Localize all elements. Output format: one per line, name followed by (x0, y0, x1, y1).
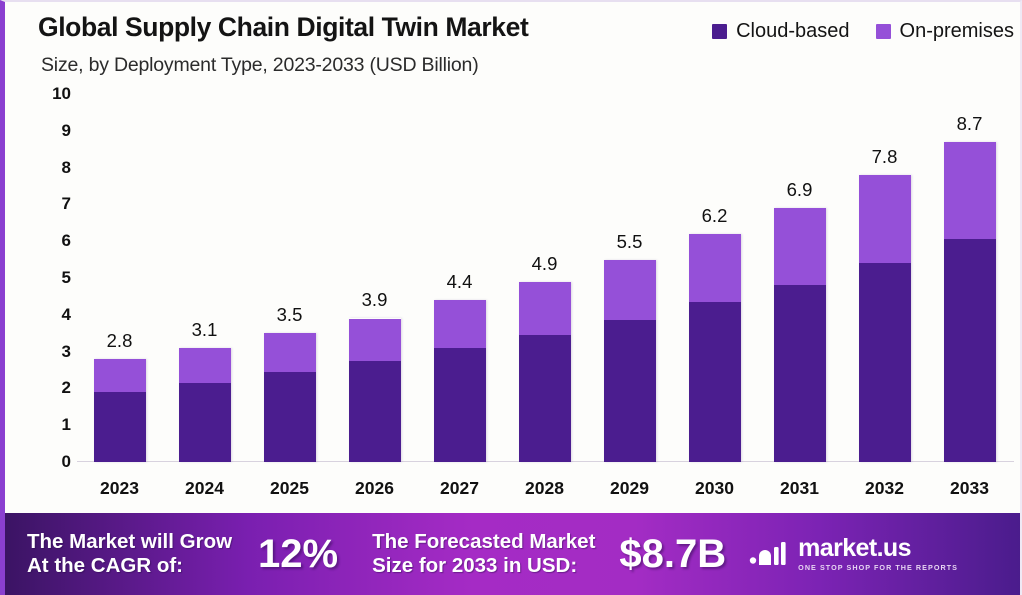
bar-segment-on-premises-2023[interactable] (94, 359, 146, 392)
logo-name: market.us (798, 536, 958, 561)
legend-item-cloud-based: Cloud-based (712, 20, 849, 43)
cagr-value: 12% (258, 532, 338, 577)
bar-stack-2033[interactable] (944, 142, 996, 462)
bar-segment-on-premises-2024[interactable] (179, 348, 231, 383)
x-axis-tick-2028: 2028 (516, 478, 574, 499)
bar-value-label-2031: 6.9 (787, 179, 813, 201)
bar-value-label-2029: 5.5 (617, 231, 643, 253)
chart-plot-area: 109876543210 2.83.13.53.94.44.95.56.26.9… (5, 94, 1022, 512)
x-axis-tick-2030: 2030 (686, 478, 744, 499)
bar-stack-2023[interactable] (94, 359, 146, 462)
bar-segment-cloud-based-2028[interactable] (519, 335, 571, 462)
bar-stack-2025[interactable] (264, 333, 316, 462)
x-axis-tick-2023: 2023 (91, 478, 149, 499)
bar-segment-cloud-based-2032[interactable] (859, 263, 911, 462)
y-axis-tick-9: 9 (62, 121, 71, 141)
bar-stack-2027[interactable] (434, 300, 486, 462)
bar-column-2033[interactable]: 8.7 (941, 94, 999, 462)
y-axis-tick-7: 7 (62, 194, 71, 214)
bar-column-2030[interactable]: 6.2 (686, 94, 744, 462)
bar-segment-cloud-based-2031[interactable] (774, 285, 826, 462)
forecast-caption-line1: The Forecasted Market (372, 530, 595, 553)
bar-segment-on-premises-2026[interactable] (349, 319, 401, 361)
bar-stack-2032[interactable] (859, 175, 911, 462)
bar-column-2029[interactable]: 5.5 (601, 94, 659, 462)
legend-swatch-icon-on-premises (876, 24, 891, 39)
bar-column-2023[interactable]: 2.8 (91, 94, 149, 462)
x-axis-tick-2033: 2033 (941, 478, 999, 499)
market-us-logo-mark-icon (748, 539, 790, 569)
page-subtitle: Size, by Deployment Type, 2023-2033 (USD… (41, 54, 478, 77)
y-axis-tick-10: 10 (52, 84, 71, 104)
legend-swatch-icon-cloud-based (712, 24, 727, 39)
bar-column-2027[interactable]: 4.4 (431, 94, 489, 462)
bar-column-2026[interactable]: 3.9 (346, 94, 404, 462)
bar-segment-on-premises-2027[interactable] (434, 300, 486, 348)
y-axis-tick-3: 3 (62, 342, 71, 362)
chart-header: Global Supply Chain Digital Twin Market … (5, 2, 1022, 94)
footer-banner: The Market will Grow At the CAGR of: 12%… (5, 513, 1022, 595)
legend-label-cloud-based: Cloud-based (736, 20, 849, 43)
x-axis-tick-2025: 2025 (261, 478, 319, 499)
bar-column-2025[interactable]: 3.5 (261, 94, 319, 462)
bar-segment-on-premises-2033[interactable] (944, 142, 996, 240)
y-axis-tick-6: 6 (62, 231, 71, 251)
legend-label-on-premises: On-premises (900, 20, 1014, 43)
bar-segment-cloud-based-2033[interactable] (944, 239, 996, 462)
bar-segment-cloud-based-2025[interactable] (264, 372, 316, 462)
bar-value-label-2026: 3.9 (362, 289, 388, 311)
bar-stack-2024[interactable] (179, 348, 231, 462)
bar-segment-on-premises-2030[interactable] (689, 234, 741, 302)
bar-stack-2030[interactable] (689, 234, 741, 462)
market-us-logo-text: market.us ONE STOP SHOP FOR THE REPORTS (798, 536, 958, 571)
bar-segment-cloud-based-2029[interactable] (604, 320, 656, 462)
bar-stack-2028[interactable] (519, 282, 571, 462)
y-axis-tick-0: 0 (62, 452, 71, 472)
bar-value-label-2023: 2.8 (107, 330, 133, 352)
bar-value-label-2033: 8.7 (957, 113, 983, 135)
cagr-caption-line1: The Market will Grow (27, 530, 232, 553)
legend-item-on-premises: On-premises (876, 20, 1014, 43)
bar-segment-on-premises-2029[interactable] (604, 260, 656, 321)
forecast-caption: The Forecasted Market Size for 2033 in U… (372, 530, 595, 578)
x-axis: 2023202420252026202720282029203020312032… (77, 468, 1012, 508)
bar-column-2028[interactable]: 4.9 (516, 94, 574, 462)
x-axis-tick-2024: 2024 (176, 478, 234, 499)
bar-segment-on-premises-2028[interactable] (519, 282, 571, 335)
bar-column-2032[interactable]: 7.8 (856, 94, 914, 462)
y-axis: 109876543210 (41, 94, 71, 462)
y-axis-tick-8: 8 (62, 158, 71, 178)
bar-value-label-2032: 7.8 (872, 146, 898, 168)
bar-segment-cloud-based-2023[interactable] (94, 392, 146, 462)
bar-segment-on-premises-2032[interactable] (859, 175, 911, 263)
bar-value-label-2028: 4.9 (532, 253, 558, 275)
x-axis-tick-2027: 2027 (431, 478, 489, 499)
bar-segment-on-premises-2031[interactable] (774, 208, 826, 285)
y-axis-tick-1: 1 (62, 415, 71, 435)
bar-segment-cloud-based-2030[interactable] (689, 302, 741, 462)
bar-segment-cloud-based-2027[interactable] (434, 348, 486, 462)
bar-series-container: 2.83.13.53.94.44.95.56.26.97.88.7 (77, 94, 1012, 462)
infographic-root: Global Supply Chain Digital Twin Market … (0, 0, 1022, 595)
market-us-logo[interactable]: market.us ONE STOP SHOP FOR THE REPORTS (748, 536, 958, 571)
x-axis-tick-2029: 2029 (601, 478, 659, 499)
bar-stack-2029[interactable] (604, 260, 656, 462)
x-axis-tick-2032: 2032 (856, 478, 914, 499)
bar-value-label-2030: 6.2 (702, 205, 728, 227)
logo-tagline: ONE STOP SHOP FOR THE REPORTS (798, 564, 958, 571)
forecast-value: $8.7B (619, 532, 726, 577)
cagr-caption: The Market will Grow At the CAGR of: (27, 530, 232, 578)
bar-value-label-2024: 3.1 (192, 319, 218, 341)
bar-value-label-2027: 4.4 (447, 271, 473, 293)
y-axis-tick-2: 2 (62, 378, 71, 398)
bar-value-label-2025: 3.5 (277, 304, 303, 326)
bar-segment-cloud-based-2026[interactable] (349, 361, 401, 462)
bar-column-2031[interactable]: 6.9 (771, 94, 829, 462)
x-axis-tick-2026: 2026 (346, 478, 404, 499)
bar-segment-on-premises-2025[interactable] (264, 333, 316, 372)
x-axis-tick-2031: 2031 (771, 478, 829, 499)
bar-segment-cloud-based-2024[interactable] (179, 383, 231, 462)
page-title: Global Supply Chain Digital Twin Market (38, 12, 528, 43)
bar-column-2024[interactable]: 3.1 (176, 94, 234, 462)
y-axis-tick-4: 4 (62, 305, 71, 325)
bar-stack-2031[interactable] (774, 208, 826, 462)
cagr-caption-line2: At the CAGR of: (27, 554, 183, 577)
bar-stack-2026[interactable] (349, 318, 401, 462)
forecast-caption-line2: Size for 2033 in USD: (372, 554, 577, 577)
chart-legend: Cloud-based On-premises (712, 20, 1014, 43)
y-axis-tick-5: 5 (62, 268, 71, 288)
